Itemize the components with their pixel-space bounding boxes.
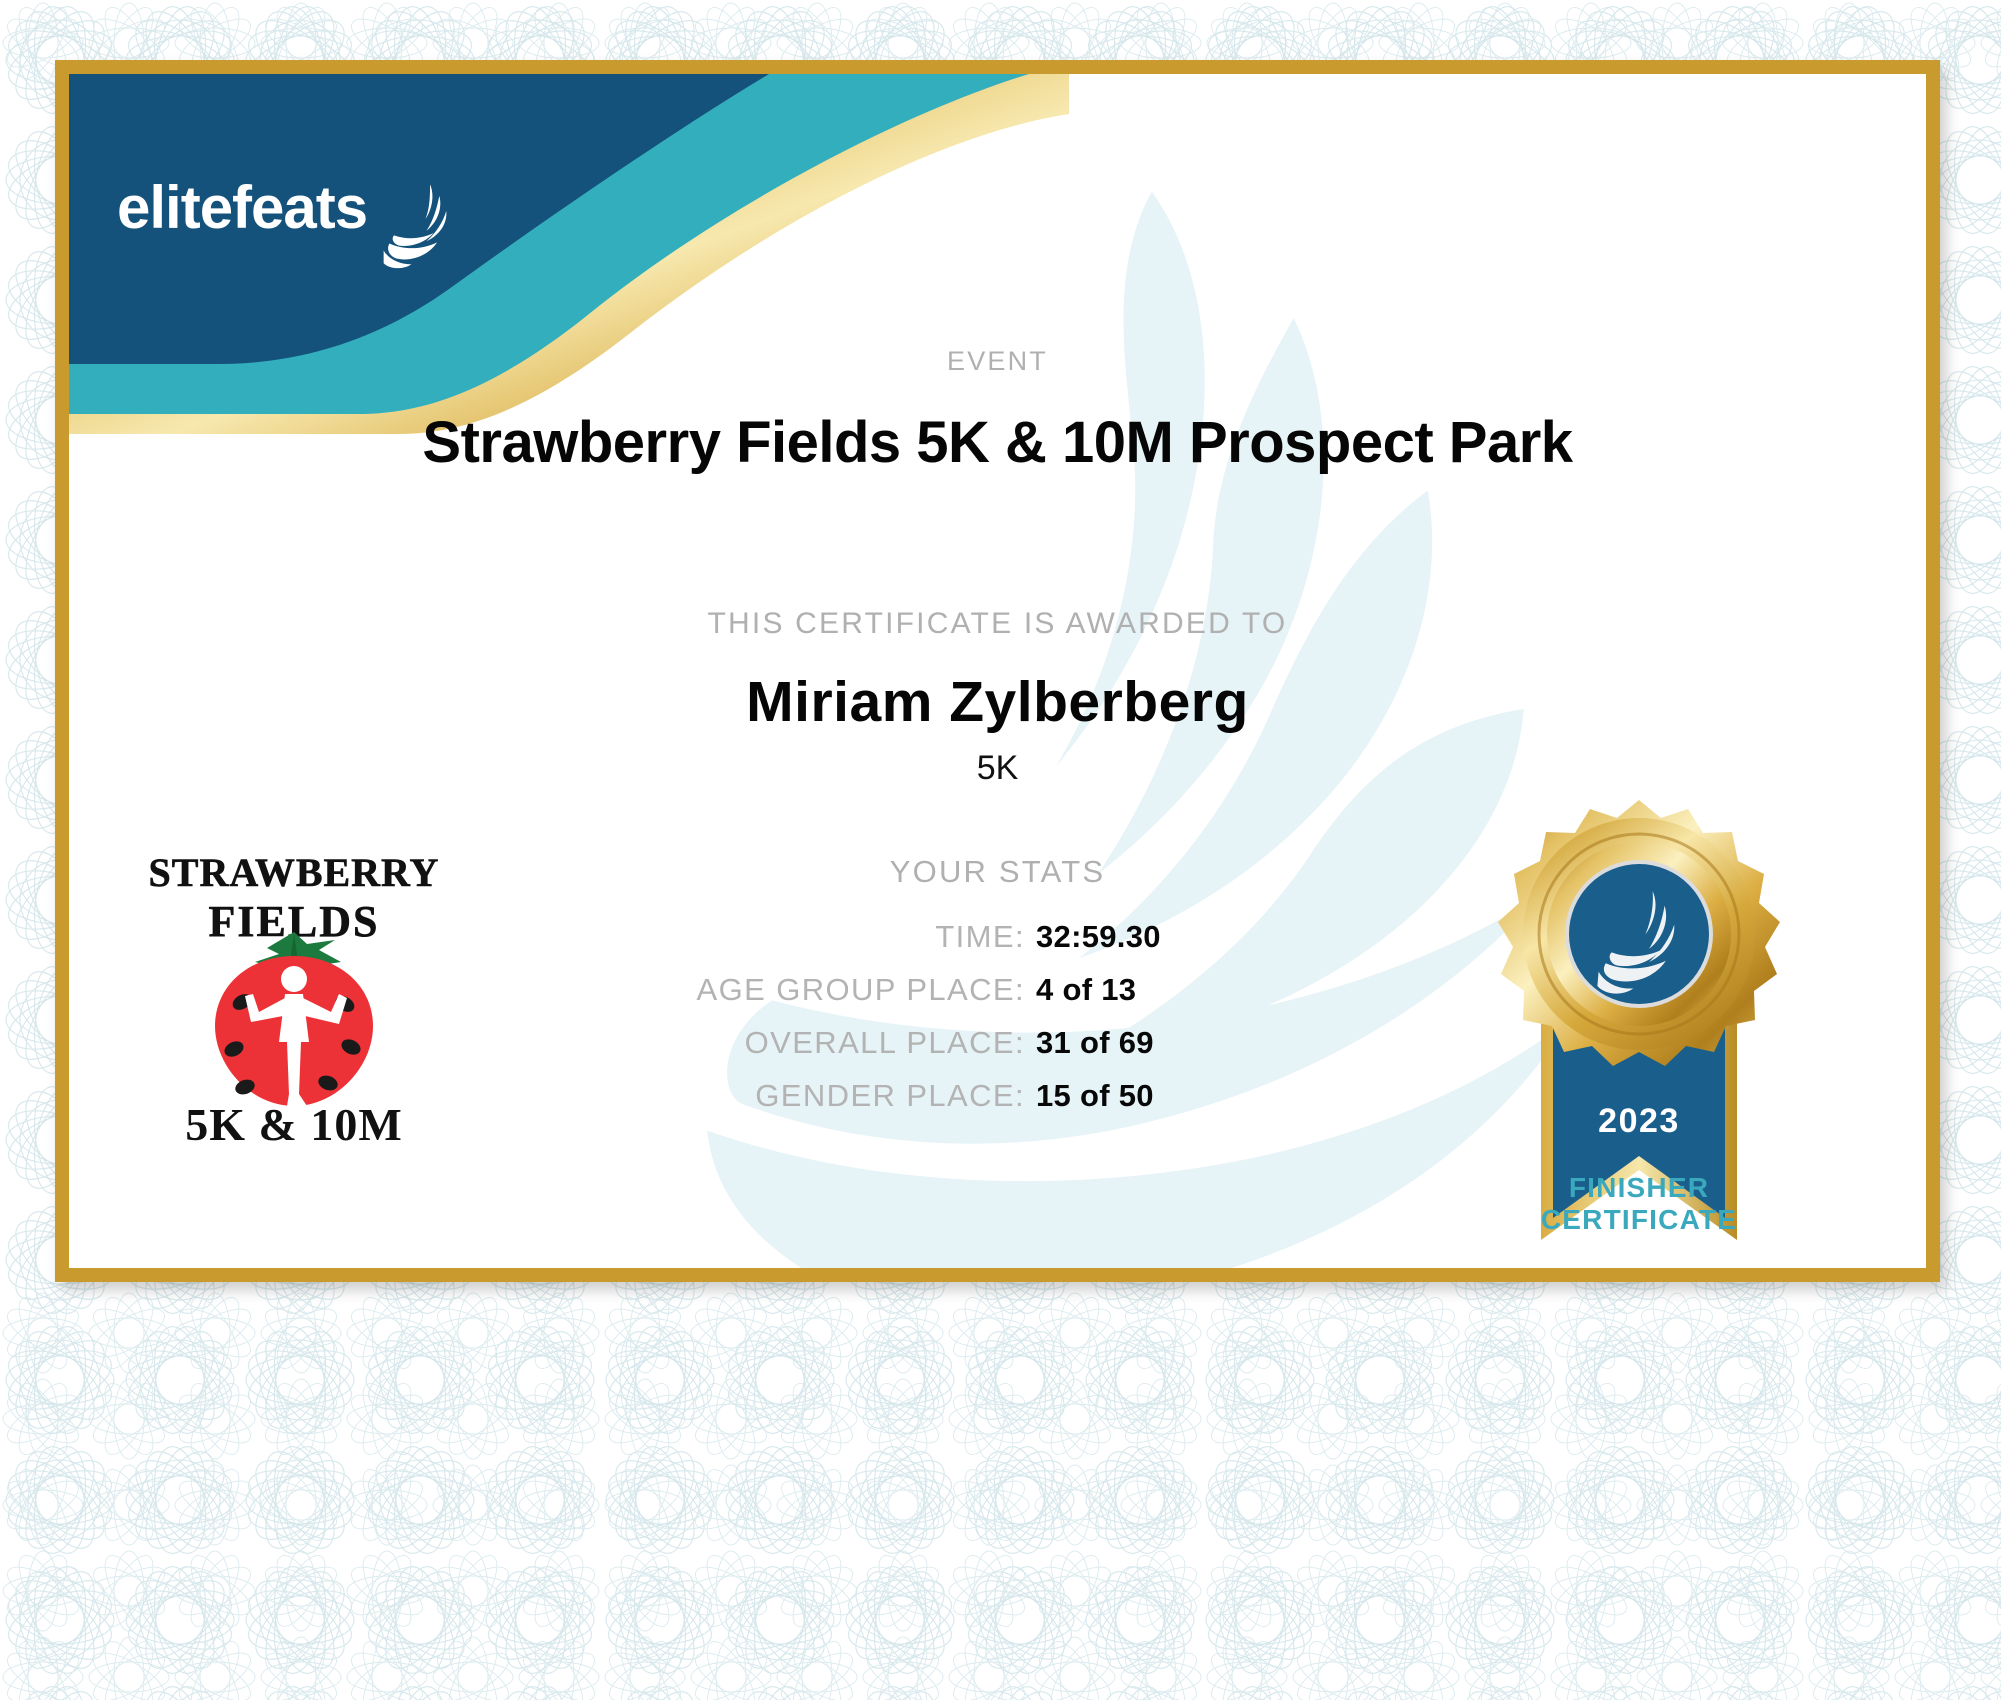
strawberry-runner-icon [215, 932, 373, 1106]
event-title: Strawberry Fields 5K & 10M Prospect Park [69, 409, 1926, 476]
race-logo-line1: STRAWBERRY [149, 850, 440, 895]
winged-foot-icon [384, 184, 447, 268]
stat-value-age-group-place: 4 of 13 [1036, 972, 1456, 1008]
stat-label-overall-place: OVERALL PLACE: [539, 1025, 1025, 1061]
finisher-caption-line1: FINISHER [1469, 1172, 1809, 1204]
stat-value-time: 32:59.30 [1036, 919, 1456, 955]
certificate-frame: elitefeats EVENT Strawberry Fields 5K & … [55, 60, 1940, 1282]
stat-label-gender-place: GENDER PLACE: [539, 1078, 1025, 1114]
finisher-caption: FINISHER CERTIFICATE [1469, 1172, 1809, 1237]
finisher-caption-line2: CERTIFICATE [1469, 1204, 1809, 1236]
awarded-to-label: THIS CERTIFICATE IS AWARDED TO [69, 607, 1926, 641]
recipient-name: Miriam Zylberberg [69, 669, 1926, 735]
stat-label-time: TIME: [539, 919, 1025, 955]
race-logo-line3: 5K & 10M [185, 1099, 403, 1144]
certificate-page: elitefeats EVENT Strawberry Fields 5K & … [0, 0, 2001, 1700]
badge-rosette [1498, 800, 1780, 1066]
recipient-distance: 5K [69, 749, 1926, 788]
event-kicker-label: EVENT [69, 346, 1926, 377]
badge-year: 2023 [1598, 1102, 1680, 1140]
certificate-body: elitefeats EVENT Strawberry Fields 5K & … [69, 74, 1926, 1268]
brand-wordmark: elitefeats [117, 174, 367, 241]
stat-label-age-group-place: AGE GROUP PLACE: [539, 972, 1025, 1008]
strawberry-fields-race-logo: STRAWBERRY FIELDS [129, 844, 459, 1144]
stat-value-overall-place: 31 of 69 [1036, 1025, 1456, 1061]
elitefeats-logo: elitefeats [117, 166, 477, 276]
stat-value-gender-place: 15 of 50 [1036, 1078, 1456, 1114]
